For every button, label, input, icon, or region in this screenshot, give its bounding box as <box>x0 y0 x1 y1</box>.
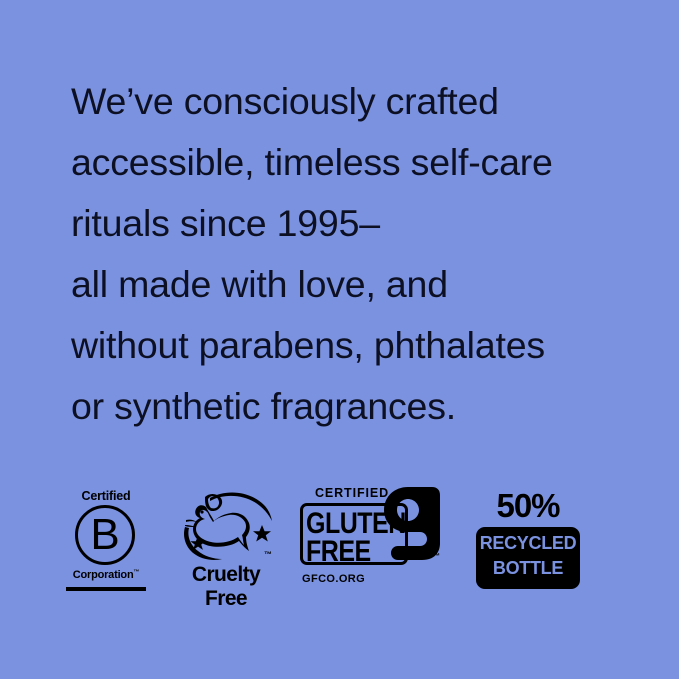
gluten-free-url-label: GFCO.ORG <box>302 573 410 585</box>
b-corp-badge: Certified B Corporation™ <box>62 483 150 595</box>
leaping-bunny-icon: ™ <box>176 489 276 561</box>
recycled-word-recycled: RECYCLED <box>476 533 580 554</box>
headline-line-2: accessible, timeless self-care <box>71 132 671 193</box>
headline-line-6: or synthetic fragrances. <box>71 376 671 437</box>
headline-line-3: rituals since 1995– <box>71 193 671 254</box>
b-corp-corporation-text: Corporation <box>73 569 134 581</box>
headline-line-5: without parabens, phthalates <box>71 315 671 376</box>
b-corp-corporation-label: Corporation™ <box>62 569 150 581</box>
b-corp-certified-label: Certified <box>62 489 150 503</box>
cruelty-free-label: Cruelty Free <box>170 563 282 611</box>
b-corp-trademark-icon: ™ <box>133 569 139 575</box>
svg-text:™: ™ <box>264 550 272 559</box>
recycled-percent-label: 50% <box>476 487 580 525</box>
b-corp-letter: B <box>75 506 135 566</box>
cruelty-free-badge: ™ Cruelty Free <box>170 483 282 595</box>
recycled-word-bottle: BOTTLE <box>476 558 580 579</box>
certification-badge-row: Certified B Corporation™ <box>0 483 679 595</box>
b-corp-underline-rule <box>66 587 146 591</box>
gluten-free-trademark-icon: ™ <box>433 553 440 560</box>
headline-line-1: We’ve consciously crafted <box>71 71 671 132</box>
headline-block: We’ve consciously crafted accessible, ti… <box>71 71 671 437</box>
headline-line-4: all made with love, and <box>71 254 671 315</box>
brand-values-banner: We’ve consciously crafted accessible, ti… <box>0 0 679 679</box>
gluten-free-badge: CERTIFIED GLUTEN FREE ™ GFCO.ORG <box>300 483 440 595</box>
recycled-bottle-badge: 50% RECYCLED BOTTLE <box>476 483 580 595</box>
